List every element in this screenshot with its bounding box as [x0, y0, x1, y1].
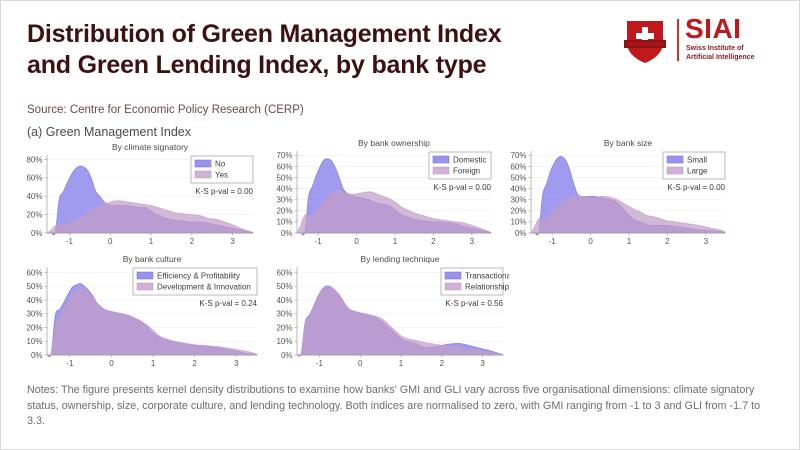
- legend-swatch: [137, 272, 153, 279]
- x-tick-label: 0: [109, 359, 114, 368]
- x-tick-label: 1: [393, 237, 398, 246]
- x-tick-label: 1: [627, 237, 632, 246]
- chart-lending-technique: By lending technique0%10%20%30%40%50%60%…: [267, 253, 509, 371]
- x-tick-label: 2: [431, 237, 436, 246]
- legend-label: Relationship: [465, 283, 509, 292]
- chart-bank-culture: By bank culture0%10%20%30%40%50%60%-1012…: [17, 253, 263, 371]
- legend-swatch: [195, 160, 211, 167]
- y-tick-label: 10%: [26, 337, 42, 346]
- ks-pvalue-annotation: K-S p-val = 0.00: [667, 183, 725, 192]
- source-caption: Source: Centre for Economic Policy Resea…: [27, 104, 304, 116]
- chart-svg-lending-technique: By lending technique0%10%20%30%40%50%60%…: [267, 253, 509, 371]
- y-tick-label: 70%: [510, 151, 526, 160]
- chart-svg-bank-ownership: By bank ownership0%10%20%30%40%50%60%70%…: [267, 137, 497, 249]
- legend-label: No: [215, 160, 226, 169]
- legend-label: Efficiency & Profitability: [157, 272, 240, 281]
- logo-wordmark: SIAI: [685, 15, 741, 43]
- y-tick-label: 0%: [281, 351, 293, 360]
- y-tick-label: 60%: [276, 268, 292, 277]
- panel-label: (a) Green Management Index: [27, 125, 191, 139]
- y-tick-label: 40%: [26, 296, 42, 305]
- page-title: Distribution of Green Management Index a…: [27, 19, 627, 80]
- legend-swatch: [137, 283, 153, 290]
- page-title-line-2: and Green Lending Index, by bank type: [27, 50, 627, 81]
- y-tick-label: 40%: [276, 296, 292, 305]
- page-title-line-1: Distribution of Green Management Index: [27, 19, 627, 50]
- x-tick-label: 0: [354, 237, 359, 246]
- x-tick-label: 3: [230, 237, 235, 246]
- ks-pvalue-annotation: K-S p-val = 0.56: [445, 299, 503, 308]
- x-tick-label: 0: [588, 237, 593, 246]
- y-tick-label: 0%: [515, 229, 527, 238]
- x-tick-label: 3: [480, 359, 485, 368]
- x-tick-label: -1: [66, 237, 74, 246]
- x-tick-label: -1: [316, 359, 324, 368]
- notes-text: Notes: The figure presents kernel densit…: [27, 383, 779, 430]
- x-tick-label: 2: [190, 237, 195, 246]
- legend-swatch: [195, 171, 211, 178]
- y-tick-label: 40%: [276, 184, 292, 193]
- y-tick-label: 0%: [31, 229, 43, 238]
- legend-swatch: [445, 272, 461, 279]
- logo-subtitle-line-1: Swiss Institute of: [686, 44, 754, 53]
- x-tick-label: 1: [151, 359, 156, 368]
- y-tick-label: 60%: [26, 174, 42, 183]
- chart-title: By lending technique: [361, 254, 440, 264]
- chart-bank-size: By bank size0%10%20%30%40%50%60%70%-1012…: [501, 137, 731, 249]
- x-tick-label: 2: [665, 237, 670, 246]
- x-tick-label: 3: [470, 237, 475, 246]
- y-tick-label: 60%: [510, 162, 526, 171]
- chart-climate-signatory: By climate signatory0%20%40%60%80%-10123…: [17, 141, 259, 249]
- y-tick-label: 50%: [276, 282, 292, 291]
- x-tick-label: 0: [108, 237, 113, 246]
- legend-label: Domestic: [453, 156, 486, 165]
- y-tick-label: 30%: [276, 196, 292, 205]
- y-tick-label: 20%: [26, 210, 42, 219]
- logo-subtitle-line-2: Artificial Intelligence: [686, 53, 754, 62]
- x-tick-label: 2: [192, 359, 197, 368]
- legend-label: Transactional: [465, 272, 509, 281]
- chart-title: By climate signatory: [112, 142, 189, 152]
- chart-svg-bank-culture: By bank culture0%10%20%30%40%50%60%-1012…: [17, 253, 263, 371]
- y-tick-label: 10%: [276, 337, 292, 346]
- legend-label: Yes: [215, 171, 228, 180]
- y-tick-label: 20%: [276, 207, 292, 216]
- chart-title: By bank culture: [123, 254, 182, 264]
- y-tick-label: 20%: [276, 323, 292, 332]
- chart-bank-ownership: By bank ownership0%10%20%30%40%50%60%70%…: [267, 137, 497, 249]
- chart-svg-bank-size: By bank size0%10%20%30%40%50%60%70%-1012…: [501, 137, 731, 249]
- y-tick-label: 10%: [510, 218, 526, 227]
- y-tick-label: 10%: [276, 218, 292, 227]
- y-tick-label: 80%: [26, 155, 42, 164]
- y-tick-label: 50%: [276, 173, 292, 182]
- logo-subtitle: Swiss Institute of Artificial Intelligen…: [686, 44, 754, 63]
- x-tick-label: -1: [66, 359, 74, 368]
- legend-label: Development & Innovation: [157, 283, 251, 292]
- y-tick-label: 20%: [26, 323, 42, 332]
- x-tick-label: 2: [440, 359, 445, 368]
- chart-title: By bank size: [604, 138, 652, 148]
- notes-block: Notes: The figure presents kernel densit…: [27, 383, 779, 430]
- y-tick-label: 0%: [281, 229, 293, 238]
- ks-pvalue-annotation: K-S p-val = 0.00: [433, 183, 491, 192]
- y-tick-label: 30%: [276, 310, 292, 319]
- legend-label: Small: [687, 156, 707, 165]
- y-tick-label: 50%: [510, 173, 526, 182]
- siai-logo: SIAI Swiss Institute of Artificial Intel…: [621, 15, 781, 67]
- ks-pvalue-annotation: K-S p-val = 0.00: [195, 187, 253, 196]
- legend-swatch: [667, 156, 683, 163]
- y-tick-label: 50%: [26, 282, 42, 291]
- chart-title: By bank ownership: [358, 138, 430, 148]
- legend-label: Large: [687, 167, 708, 176]
- y-tick-label: 30%: [510, 196, 526, 205]
- x-tick-label: -1: [549, 237, 557, 246]
- x-tick-label: -1: [315, 237, 323, 246]
- legend-swatch: [445, 283, 461, 290]
- legend-swatch: [433, 156, 449, 163]
- y-tick-label: 20%: [510, 207, 526, 216]
- ks-pvalue-annotation: K-S p-val = 0.24: [199, 299, 257, 308]
- legend-swatch: [433, 167, 449, 174]
- x-tick-label: 1: [399, 359, 404, 368]
- y-tick-label: 60%: [276, 162, 292, 171]
- y-tick-label: 70%: [276, 151, 292, 160]
- slide-canvas: Distribution of Green Management Index a…: [0, 0, 800, 450]
- chart-svg-climate-signatory: By climate signatory0%20%40%60%80%-10123…: [17, 141, 259, 249]
- swiss-shield-icon: [621, 17, 669, 65]
- logo-divider: [677, 19, 679, 61]
- y-tick-label: 40%: [510, 184, 526, 193]
- x-tick-label: 1: [149, 237, 154, 246]
- y-tick-label: 40%: [26, 192, 42, 201]
- x-tick-label: 3: [704, 237, 709, 246]
- x-tick-label: 0: [358, 359, 363, 368]
- y-tick-label: 0%: [31, 351, 43, 360]
- legend-swatch: [667, 167, 683, 174]
- x-tick-label: 3: [234, 359, 239, 368]
- legend-label: Foreign: [453, 167, 480, 176]
- y-tick-label: 30%: [26, 310, 42, 319]
- y-tick-label: 60%: [26, 268, 42, 277]
